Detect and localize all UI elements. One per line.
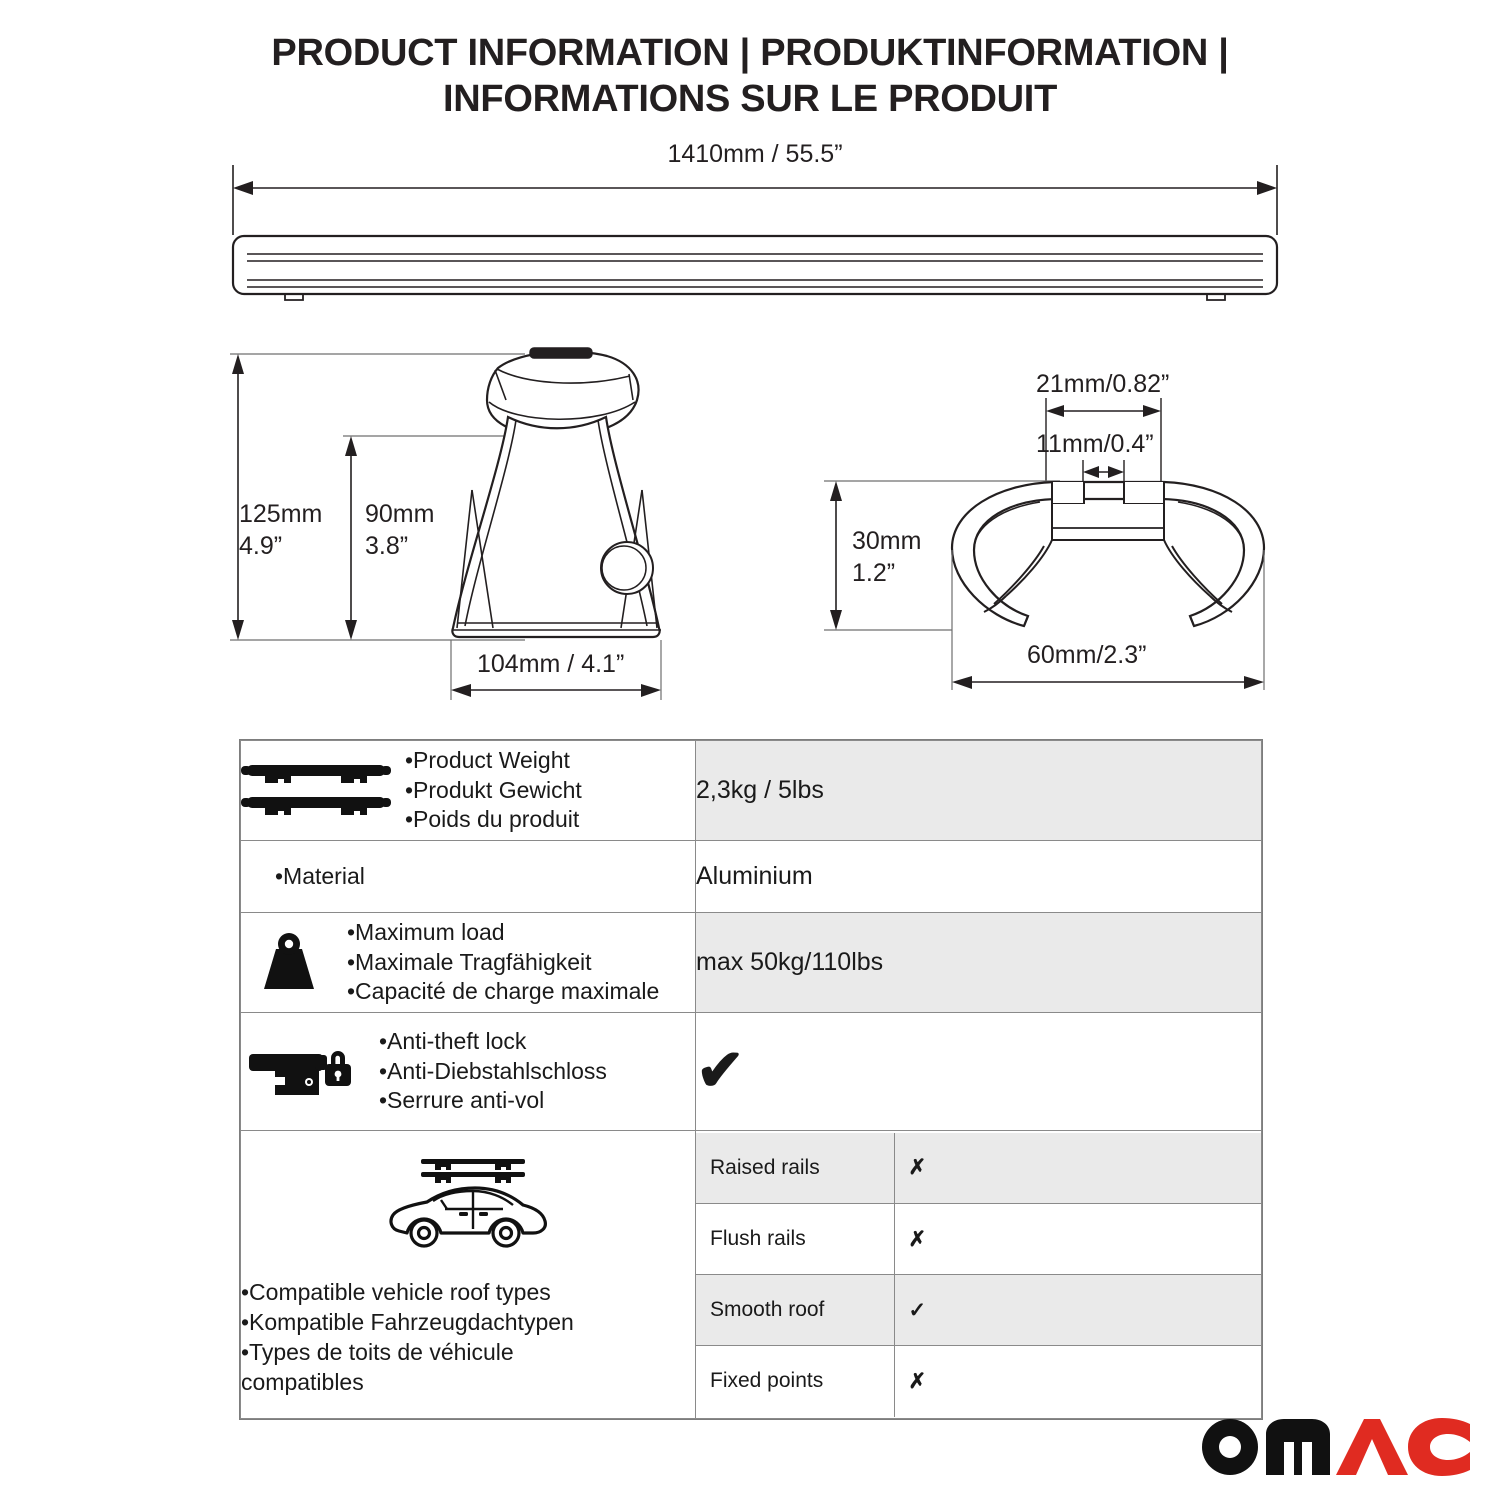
table-row: •Material Aluminium — [241, 841, 1262, 913]
roof-bar-side-view: 125mm 4.9” 90mm 3.8” 104mm / 4.1” — [225, 340, 725, 710]
row-value-cell: ✔ — [696, 1013, 1262, 1131]
profile-height-dimension-label: 30mm 1.2” — [852, 526, 921, 589]
roof-type-row: Flush rails ✗ — [696, 1204, 1261, 1275]
roof-type-mark-check-icon: ✓ — [894, 1275, 1261, 1346]
anti-theft-check-icon: ✔ — [696, 1038, 745, 1103]
roof-types-labels: •Compatible vehicle roof types •Kompatib… — [241, 1278, 574, 1398]
slot-outer-dimension-label: 21mm/0.82” — [1036, 370, 1169, 399]
roof-type-mark-cross-icon: ✗ — [894, 1346, 1261, 1417]
row-labels: •Material — [241, 862, 695, 892]
roof-bar-cross-section: 21mm/0.82” 11mm/0.4” 30mm 1.2” 60mm/2.3” — [812, 368, 1312, 700]
roof-types-value-cell: Raised rails ✗ Flush rails ✗ Smooth roof… — [696, 1131, 1262, 1419]
roof-type-mark-cross-icon: ✗ — [894, 1204, 1261, 1275]
row-value-cell: 2,3kg / 5lbs — [696, 741, 1262, 841]
profile-width-dimension-label: 60mm/2.3” — [1027, 641, 1146, 670]
roof-type-row: Raised rails ✗ — [696, 1133, 1261, 1204]
row-value-cell: Aluminium — [696, 841, 1262, 913]
foot-width-dimension-label: 104mm / 4.1” — [477, 650, 624, 679]
table-row: •Product Weight •Produkt Gewicht •Poids … — [241, 741, 1262, 841]
max-load-value: max 50kg/110lbs — [696, 948, 883, 976]
roof-type-name: Smooth roof — [696, 1275, 894, 1346]
material-value: Aluminium — [696, 862, 813, 890]
row-label-cell: •Material — [241, 841, 696, 913]
slot-inner-dimension-label: 11mm/0.4” — [1036, 430, 1154, 459]
row-label-cell: •Maximum load •Maximale Tragfähigkeit •C… — [241, 913, 696, 1013]
car-with-bars-icon — [383, 1153, 553, 1262]
height-inner-dimension-label: 90mm 3.8” — [365, 499, 434, 562]
row-labels: •Anti-theft lock •Anti-Diebstahlschloss … — [379, 1027, 607, 1117]
row-label-cell: •Product Weight •Produkt Gewicht •Poids … — [241, 741, 696, 841]
roof-type-name: Fixed points — [696, 1346, 894, 1417]
row-labels: •Product Weight •Produkt Gewicht •Poids … — [405, 746, 582, 836]
roof-bar-top-view: 1410mm / 55.5” — [225, 140, 1285, 315]
roof-type-row: Fixed points ✗ — [696, 1346, 1261, 1417]
title-line-2: INFORMATIONS SUR LE PRODUIT — [0, 76, 1500, 122]
table-row: •Anti-theft lock •Anti-Diebstahlschloss … — [241, 1013, 1262, 1131]
specification-table: •Product Weight •Produkt Gewicht •Poids … — [239, 739, 1263, 1420]
page-title: PRODUCT INFORMATION | PRODUKTINFORMATION… — [0, 30, 1500, 123]
roof-type-row: Smooth roof ✓ — [696, 1275, 1261, 1346]
row-labels: •Maximum load •Maximale Tragfähigkeit •C… — [347, 918, 659, 1008]
row-value-cell: max 50kg/110lbs — [696, 913, 1262, 1013]
table-row: •Maximum load •Maximale Tragfähigkeit •C… — [241, 913, 1262, 1013]
roof-types-table: Raised rails ✗ Flush rails ✗ Smooth roof… — [696, 1133, 1261, 1417]
roof-type-name: Flush rails — [696, 1204, 894, 1275]
roof-bars-icon — [241, 759, 391, 821]
product-weight-value: 2,3kg / 5lbs — [696, 776, 824, 804]
roof-type-name: Raised rails — [696, 1133, 894, 1204]
omac-logo — [1194, 1412, 1470, 1478]
roof-types-label-cell: •Compatible vehicle roof types •Kompatib… — [241, 1131, 696, 1419]
omac-logo-mark — [1194, 1412, 1470, 1478]
title-line-1: PRODUCT INFORMATION | PRODUKTINFORMATION… — [0, 30, 1500, 76]
length-dimension-label: 1410mm / 55.5” — [667, 140, 842, 169]
table-row-roof-types: •Compatible vehicle roof types •Kompatib… — [241, 1131, 1262, 1419]
weight-icon — [241, 931, 337, 993]
height-total-dimension-label: 125mm 4.9” — [239, 499, 322, 562]
product-information-page: PRODUCT INFORMATION | PRODUKTINFORMATION… — [0, 0, 1500, 1500]
roof-type-mark-cross-icon: ✗ — [894, 1133, 1261, 1204]
lock-icon — [241, 1038, 361, 1104]
row-label-cell: •Anti-theft lock •Anti-Diebstahlschloss … — [241, 1013, 696, 1131]
